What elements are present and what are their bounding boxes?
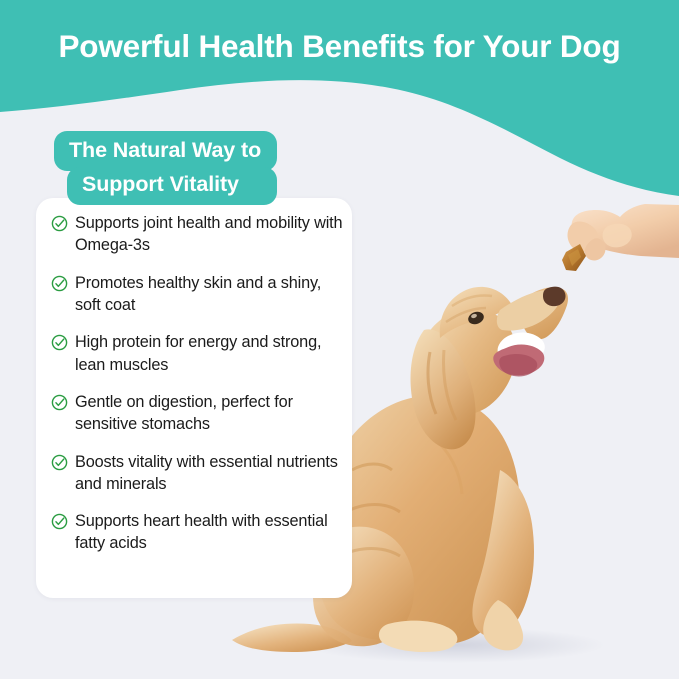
benefit-text: Supports heart health with essential fat…	[75, 510, 344, 555]
list-item: Supports joint health and mobility with …	[51, 212, 344, 257]
badge-line-2: Support Vitality	[67, 167, 277, 206]
benefits-card: Supports joint health and mobility with …	[36, 198, 352, 598]
benefit-text: Boosts vitality with essential nutrients…	[75, 451, 344, 496]
benefit-text: Promotes healthy skin and a shiny, soft …	[75, 272, 344, 317]
benefit-text: Gentle on digestion, perfect for sensiti…	[75, 391, 344, 436]
circle-check-icon	[51, 513, 68, 530]
subtitle-badge: The Natural Way to Support Vitality	[54, 131, 277, 205]
list-item: Promotes healthy skin and a shiny, soft …	[51, 272, 344, 317]
list-item: Supports heart health with essential fat…	[51, 510, 344, 555]
dog-treat	[562, 244, 586, 271]
circle-check-icon	[51, 334, 68, 351]
infographic-canvas: Powerful Health Benefits for Your Dog	[0, 0, 679, 679]
circle-check-icon	[51, 215, 68, 232]
circle-check-icon	[51, 275, 68, 292]
list-item: High protein for energy and strong, lean…	[51, 331, 344, 376]
circle-check-icon	[51, 454, 68, 471]
dog-ear	[411, 329, 476, 449]
list-item: Boosts vitality with essential nutrients…	[51, 451, 344, 496]
list-item: Gentle on digestion, perfect for sensiti…	[51, 391, 344, 436]
circle-check-icon	[51, 394, 68, 411]
page-title: Powerful Health Benefits for Your Dog	[0, 28, 679, 64]
dog-head	[440, 287, 568, 377]
benefits-list: Supports joint health and mobility with …	[51, 212, 344, 555]
benefit-text: Supports joint health and mobility with …	[75, 212, 344, 257]
badge-line-1: The Natural Way to	[54, 131, 277, 171]
benefit-text: High protein for energy and strong, lean…	[75, 331, 344, 376]
